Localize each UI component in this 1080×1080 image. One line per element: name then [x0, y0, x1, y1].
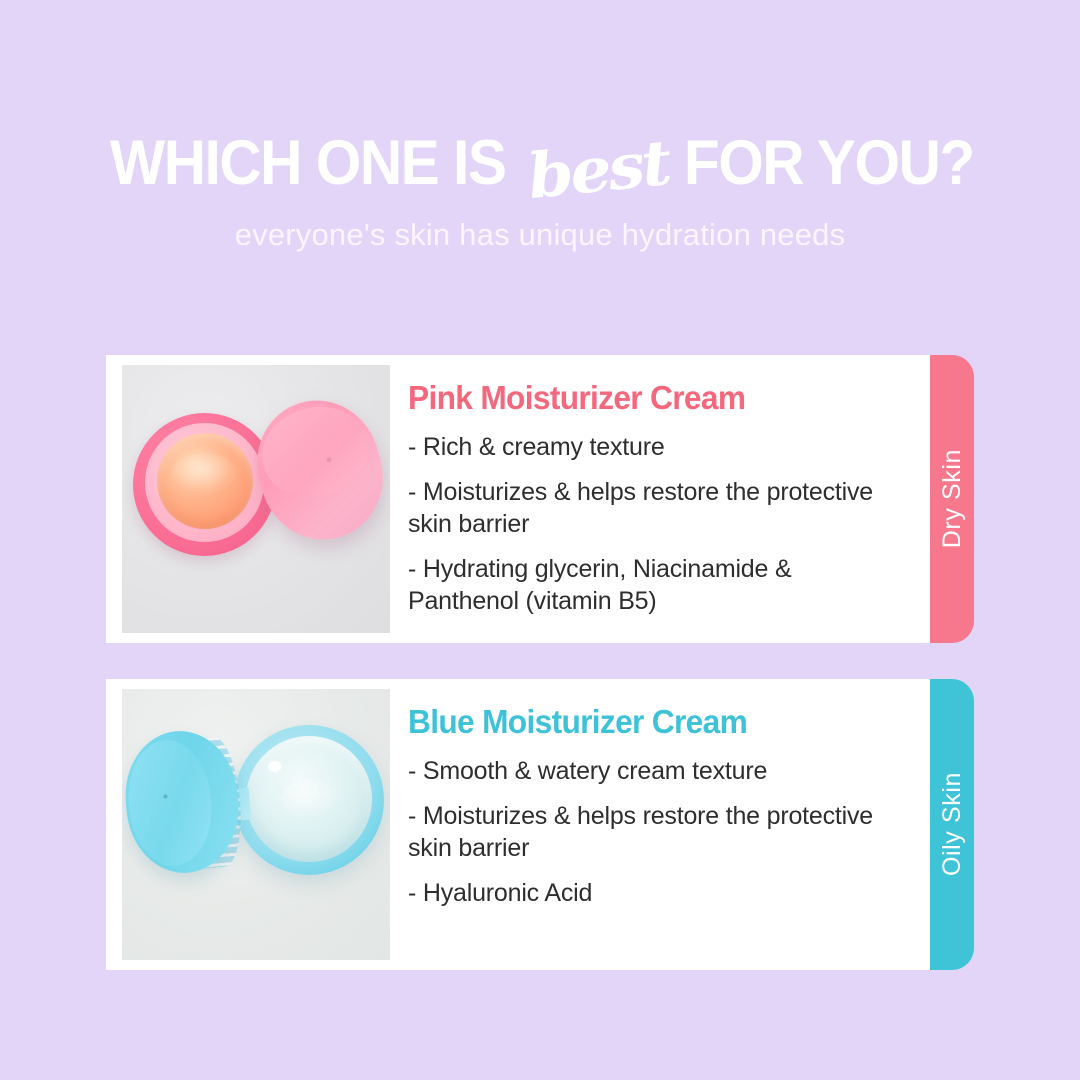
blue-card-text: Blue Moisturizer Cream - Smooth & watery… — [390, 689, 930, 960]
product-card-pink: Pink Moisturizer Cream - Rich & creamy t… — [106, 355, 930, 643]
headline: WHICH ONE IS best FOR YOU? — [0, 132, 1080, 195]
pink-cream-swirl — [172, 453, 236, 493]
pink-card-text: Pink Moisturizer Cream - Rich & creamy t… — [390, 365, 930, 633]
pink-feature-1: - Rich & creamy texture — [408, 431, 906, 463]
tab-oily-skin[interactable]: Oily Skin — [930, 679, 974, 970]
blue-gel-bubble — [268, 761, 281, 772]
poster-canvas: WHICH ONE IS best FOR YOU? everyone's sk… — [0, 0, 1080, 1080]
blue-feature-3: - Hyaluronic Acid — [408, 877, 906, 909]
blue-gel-highlight — [282, 779, 340, 819]
blue-feature-1: - Smooth & watery cream texture — [408, 755, 906, 787]
tab-oily-skin-label: Oily Skin — [938, 772, 967, 876]
blue-product-title: Blue Moisturizer Cream — [408, 703, 886, 741]
headline-script-word: best — [524, 131, 671, 207]
pink-feature-2: - Moisturizes & helps restore the protec… — [408, 476, 906, 540]
pink-moisturizer-jar-photo — [122, 365, 390, 633]
pink-product-title: Pink Moisturizer Cream — [408, 379, 886, 417]
pink-feature-3: - Hydrating glycerin, Niacinamide & Pant… — [408, 553, 906, 617]
subheadline: everyone's skin has unique hydration nee… — [0, 217, 1080, 253]
headline-part1: WHICH ONE IS — [110, 132, 506, 195]
tab-dry-skin[interactable]: Dry Skin — [930, 355, 974, 643]
tab-dry-skin-label: Dry Skin — [938, 449, 967, 548]
product-card-blue: Blue Moisturizer Cream - Smooth & watery… — [106, 679, 930, 970]
headline-part2: FOR YOU? — [684, 132, 974, 195]
blue-moisturizer-jar-photo — [122, 689, 390, 960]
blue-feature-2: - Moisturizes & helps restore the protec… — [408, 800, 906, 864]
header-block: WHICH ONE IS best FOR YOU? everyone's sk… — [0, 132, 1080, 253]
